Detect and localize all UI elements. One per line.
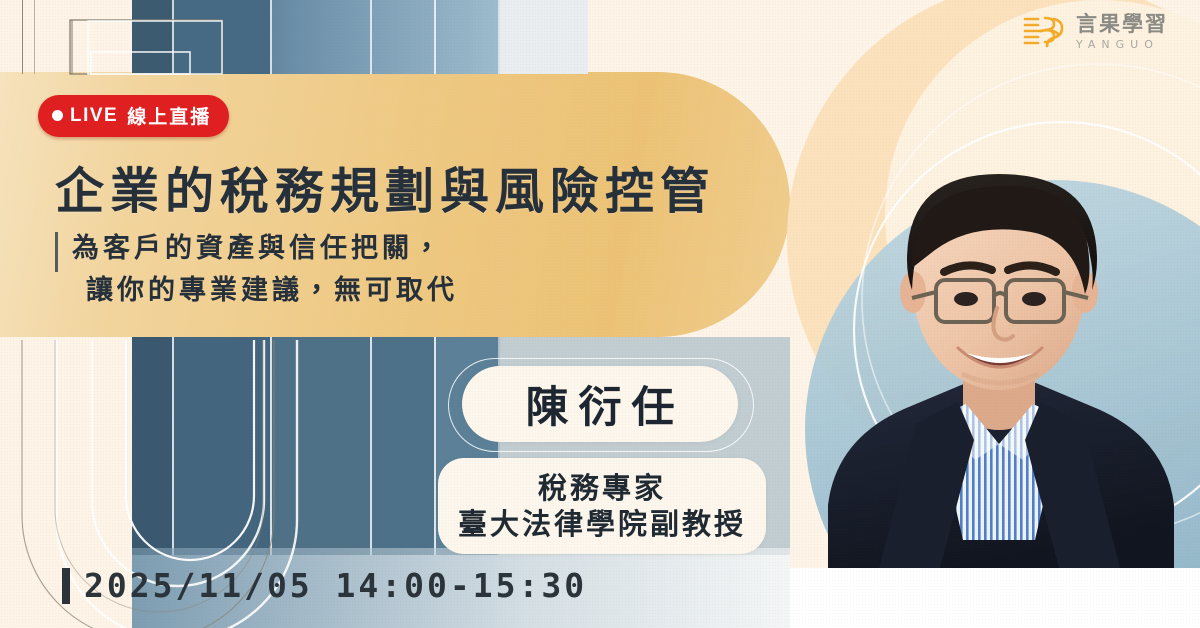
live-badge: LIVE 線上直播 (38, 95, 229, 137)
speaker-name: 陳衍任 (516, 373, 685, 435)
subtitle-line-2: 讓你的專業建議，無可取代 (86, 270, 458, 312)
speaker-credentials: 稅務專家 臺大法律學院副教授 (438, 458, 766, 554)
subtitle-line-1: 為客戶的資產與信任把關， (72, 228, 458, 270)
brand-name-cn: 言果學習 (1076, 14, 1168, 35)
schedule-rule (62, 568, 70, 604)
subtitle-lines: 為客戶的資產與信任把關， 讓你的專業建議，無可取代 (72, 228, 458, 312)
subtitle-rule (55, 232, 58, 272)
portrait-base-strip (790, 568, 1200, 628)
live-label-en: LIVE (70, 105, 118, 127)
live-label-cn: 線上直播 (127, 102, 211, 129)
webinar-banner: LIVE 線上直播 企業的稅務規劃與風險控管 為客戶的資產與信任把關， 讓你的專… (0, 0, 1200, 628)
yanguo-mark-icon (1021, 12, 1067, 52)
credential-line-2: 臺大法律學院副教授 (458, 506, 746, 542)
live-dot-icon (52, 110, 63, 121)
credential-line-1: 稅務專家 (538, 470, 666, 506)
subtitle-block: 為客戶的資產與信任把關， 讓你的專業建議，無可取代 (55, 228, 458, 312)
schedule-datetime: 2025/11/05 14:00-15:30 (84, 566, 587, 605)
page-title: 企業的稅務規劃與風險控管 (55, 152, 715, 223)
brand-logo: 言果學習 YANGUO (1021, 12, 1168, 52)
brand-name-en: YANGUO (1076, 39, 1168, 50)
brand-wordmark: 言果學習 YANGUO (1076, 14, 1168, 50)
schedule-row: 2025/11/05 14:00-15:30 (62, 566, 587, 605)
speaker-name-pill: 陳衍任 (462, 366, 738, 442)
